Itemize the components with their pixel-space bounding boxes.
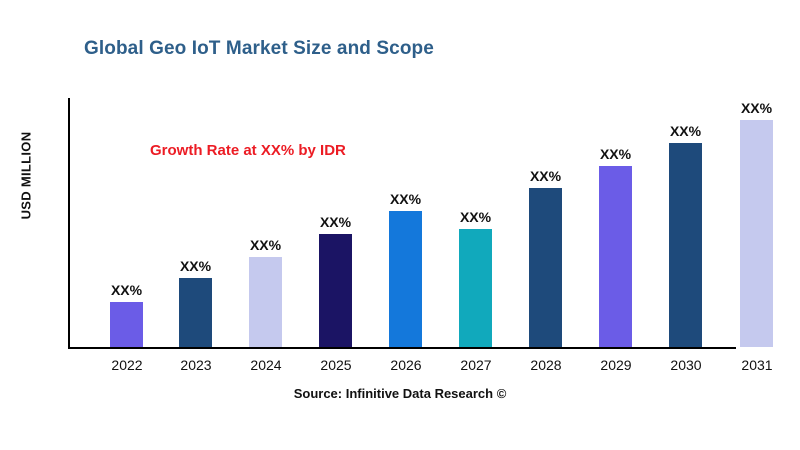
bar-value-label: XX% [530,168,561,184]
bar-2027[interactable]: XX% [459,203,492,347]
y-axis-label: USD MILLION [19,106,34,246]
x-tick-2029: 2029 [589,357,643,373]
bar-rect[interactable] [459,229,492,347]
bar-value-label: XX% [390,191,421,207]
x-tick-2027: 2027 [449,357,503,373]
bar-2031[interactable]: XX% [740,94,773,347]
bar-value-label: XX% [600,146,631,162]
bar-value-label: XX% [670,123,701,139]
bar-value-label: XX% [460,209,491,225]
bar-2030[interactable]: XX% [669,117,702,347]
x-tick-2023: 2023 [169,357,223,373]
plot-area: XX%XX%XX%XX%XX%XX%XX%XX%XX%XX% [68,98,736,349]
bar-rect[interactable] [669,143,702,347]
bar-2028[interactable]: XX% [529,162,562,347]
bar-value-label: XX% [111,282,142,298]
bar-value-label: XX% [250,237,281,253]
bar-rect[interactable] [179,278,212,347]
bar-rect[interactable] [599,166,632,347]
bar-2023[interactable]: XX% [179,252,212,347]
chart-container: Global Geo IoT Market Size and Scope USD… [0,0,800,450]
bar-value-label: XX% [320,214,351,230]
x-tick-2031: 2031 [730,357,784,373]
bar-rect[interactable] [529,188,562,347]
bar-2026[interactable]: XX% [389,185,422,347]
bar-2024[interactable]: XX% [249,231,282,347]
x-axis-line [68,347,736,349]
bar-value-label: XX% [180,258,211,274]
x-tick-2028: 2028 [519,357,573,373]
page-title: Global Geo IoT Market Size and Scope [84,38,434,60]
y-axis-line [68,98,70,349]
x-tick-2022: 2022 [100,357,154,373]
bar-2025[interactable]: XX% [319,208,352,347]
bar-rect[interactable] [740,120,773,347]
bar-rect[interactable] [110,302,143,347]
bar-rect[interactable] [389,211,422,347]
bar-rect[interactable] [249,257,282,347]
x-tick-2025: 2025 [309,357,363,373]
x-tick-2026: 2026 [379,357,433,373]
source-note: Source: Infinitive Data Research © [0,386,800,401]
bar-2029[interactable]: XX% [599,140,632,347]
x-tick-2030: 2030 [659,357,713,373]
bar-value-label: XX% [741,100,772,116]
x-tick-2024: 2024 [239,357,293,373]
bar-2022[interactable]: XX% [110,276,143,347]
bar-rect[interactable] [319,234,352,347]
